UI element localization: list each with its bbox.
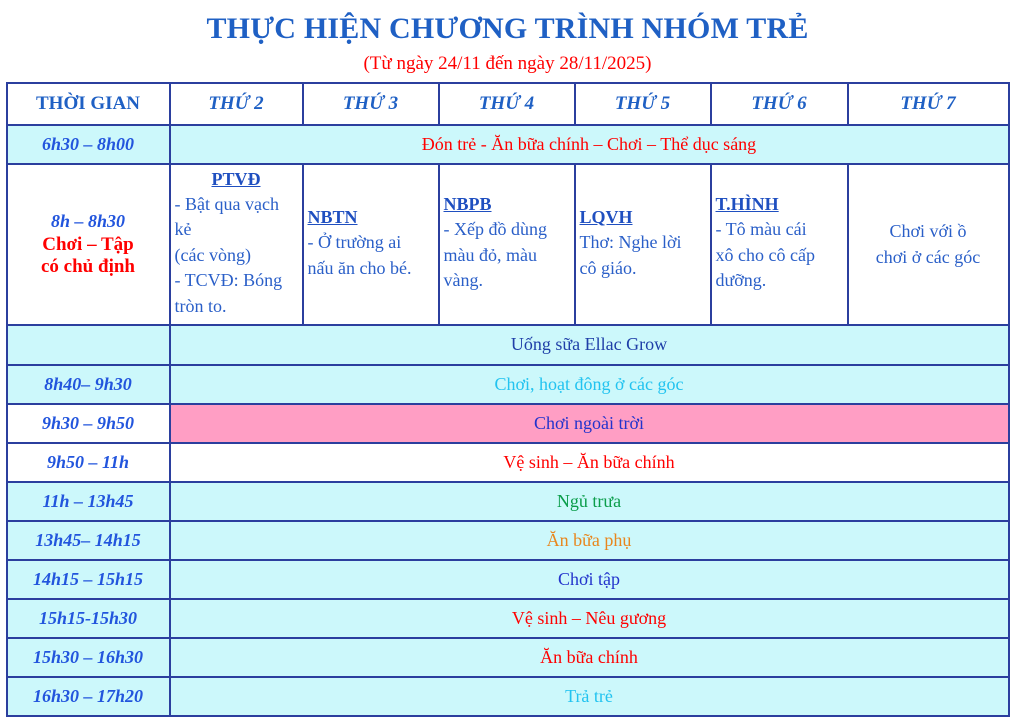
column-header-thursday: THỨ 5	[575, 83, 711, 125]
table-row: 8h – 8h30 Chơi – Tập có chủ định PTVĐ - …	[7, 164, 1009, 325]
schedule-body: THỜI GIAN THỨ 2 THỨ 3 THỨ 4 THỨ 5 THỨ 6 …	[7, 83, 1009, 716]
activity-cell: Chơi ngoài trời	[170, 404, 1009, 443]
activity-line: vàng.	[444, 268, 570, 294]
time-cell: 8h – 8h30 Chơi – Tập có chủ định	[7, 164, 170, 325]
activity-cell: Ngủ trưa	[170, 482, 1009, 521]
table-row: 14h15 – 15h15 Chơi tập	[7, 560, 1009, 599]
activity-cell-thursday: LQVH Thơ: Nghe lời cô giáo.	[575, 164, 711, 325]
time-cell: 14h15 – 15h15	[7, 560, 170, 599]
activity-lines: - Xếp đồ dùng màu đỏ, màu vàng.	[444, 217, 570, 294]
activity-cell: Vệ sinh – Ăn bữa chính	[170, 443, 1009, 482]
subject-label: PTVĐ	[175, 169, 298, 190]
activity-cell: Đón trẻ - Ăn bữa chính – Chơi – Thể dục …	[170, 125, 1009, 164]
activity-line: (các vòng)	[175, 243, 298, 269]
page-title: THỰC HIỆN CHƯƠNG TRÌNH NHÓM TRẺ	[0, 0, 1015, 47]
table-row: 15h30 – 16h30 Ăn bữa chính	[7, 638, 1009, 677]
activity-line: dưỡng.	[716, 268, 843, 294]
time-cell: 15h15-15h30	[7, 599, 170, 638]
table-row: 15h15-15h30 Vệ sinh – Nêu gương	[7, 599, 1009, 638]
activity-cell: Ăn bữa chính	[170, 638, 1009, 677]
schedule-page: THỰC HIỆN CHƯƠNG TRÌNH NHÓM TRẺ (Từ ngày…	[0, 0, 1015, 694]
table-row: 9h50 – 11h Vệ sinh – Ăn bữa chính	[7, 443, 1009, 482]
activity-lines: - Tô màu cái xô cho cô cấp dưỡng.	[716, 217, 843, 294]
column-header-time: THỜI GIAN	[7, 83, 170, 125]
weekly-schedule-table: THỜI GIAN THỨ 2 THỨ 3 THỨ 4 THỨ 5 THỨ 6 …	[6, 82, 1010, 717]
time-cell: 9h30 – 9h50	[7, 404, 170, 443]
subject-label: T.HÌNH	[716, 194, 843, 215]
time-cell: 8h40– 9h30	[7, 365, 170, 404]
activity-cell-tuesday: NBTN - Ở trường ai nấu ăn cho bé.	[303, 164, 439, 325]
table-row: 9h30 – 9h50 Chơi ngoài trời	[7, 404, 1009, 443]
time-cell: 9h50 – 11h	[7, 443, 170, 482]
activity-line: - Xếp đồ dùng	[444, 217, 570, 243]
time-cell	[7, 325, 170, 365]
time-cell: 16h30 – 17h20	[7, 677, 170, 716]
table-row: 6h30 – 8h00 Đón trẻ - Ăn bữa chính – Chơ…	[7, 125, 1009, 164]
column-header-tuesday: THỨ 3	[303, 83, 439, 125]
activity-lines: - Bật qua vạch kẻ (các vòng) - TCVĐ: Bón…	[175, 192, 298, 320]
activity-cell-monday: PTVĐ - Bật qua vạch kẻ (các vòng) - TCVĐ…	[170, 164, 303, 325]
column-header-wednesday: THỨ 4	[439, 83, 575, 125]
activity-lines: - Ở trường ai nấu ăn cho bé.	[308, 230, 434, 281]
activity-cell: Chơi, hoạt đông ở các góc	[170, 365, 1009, 404]
subject-label: NBPB	[444, 194, 570, 215]
activity-line: chơi ở các góc	[876, 247, 980, 267]
column-header-monday: THỨ 2	[170, 83, 303, 125]
activity-cell: Uống sữa Ellac Grow	[170, 325, 1009, 365]
table-row: 13h45– 14h15 Ăn bữa phụ	[7, 521, 1009, 560]
table-row: 16h30 – 17h20 Trả trẻ	[7, 677, 1009, 716]
activity-line: - Tô màu cái	[716, 217, 843, 243]
activity-line: tròn to.	[175, 294, 298, 320]
time-cell-sub-line2: có chủ định	[12, 256, 165, 278]
activity-cell: Chơi tập	[170, 560, 1009, 599]
activity-line: - Bật qua vạch kẻ	[175, 192, 298, 243]
subject-label: LQVH	[580, 207, 706, 228]
activity-cell: Vệ sinh – Nêu gương	[170, 599, 1009, 638]
column-header-saturday: THỨ 7	[848, 83, 1009, 125]
activity-cell-friday: T.HÌNH - Tô màu cái xô cho cô cấp dưỡng.	[711, 164, 848, 325]
activity-line: - TCVĐ: Bóng	[175, 268, 298, 294]
time-cell: 11h – 13h45	[7, 482, 170, 521]
table-row: Uống sữa Ellac Grow	[7, 325, 1009, 365]
activity-cell-wednesday: NBPB - Xếp đồ dùng màu đỏ, màu vàng.	[439, 164, 575, 325]
time-cell: 15h30 – 16h30	[7, 638, 170, 677]
activity-line: - Ở trường ai	[308, 230, 434, 256]
activity-line: màu đỏ, màu	[444, 243, 570, 269]
activity-cell: Ăn bữa phụ	[170, 521, 1009, 560]
column-header-friday: THỨ 6	[711, 83, 848, 125]
table-row: 11h – 13h45 Ngủ trưa	[7, 482, 1009, 521]
activity-cell: Trả trẻ	[170, 677, 1009, 716]
activity-cell-saturday: Chơi với ồ chơi ở các góc	[848, 164, 1009, 325]
activity-line: cô giáo.	[580, 256, 706, 282]
date-range-subtitle: (Từ ngày 24/11 đến ngày 28/11/2025)	[0, 47, 1015, 82]
activity-line: xô cho cô cấp	[716, 243, 843, 269]
subject-label: NBTN	[308, 207, 434, 228]
table-header-row: THỜI GIAN THỨ 2 THỨ 3 THỨ 4 THỨ 5 THỨ 6 …	[7, 83, 1009, 125]
activity-lines: Thơ: Nghe lời cô giáo.	[580, 230, 706, 281]
time-cell: 13h45– 14h15	[7, 521, 170, 560]
activity-line: Thơ: Nghe lời	[580, 230, 706, 256]
table-row: 8h40– 9h30 Chơi, hoạt đông ở các góc	[7, 365, 1009, 404]
time-cell: 6h30 – 8h00	[7, 125, 170, 164]
activity-line: nấu ăn cho bé.	[308, 256, 434, 282]
time-cell-sub-line1: Chơi – Tập	[12, 234, 165, 256]
time-cell-main: 8h – 8h30	[12, 210, 165, 233]
activity-line: Chơi với ồ	[889, 221, 966, 241]
